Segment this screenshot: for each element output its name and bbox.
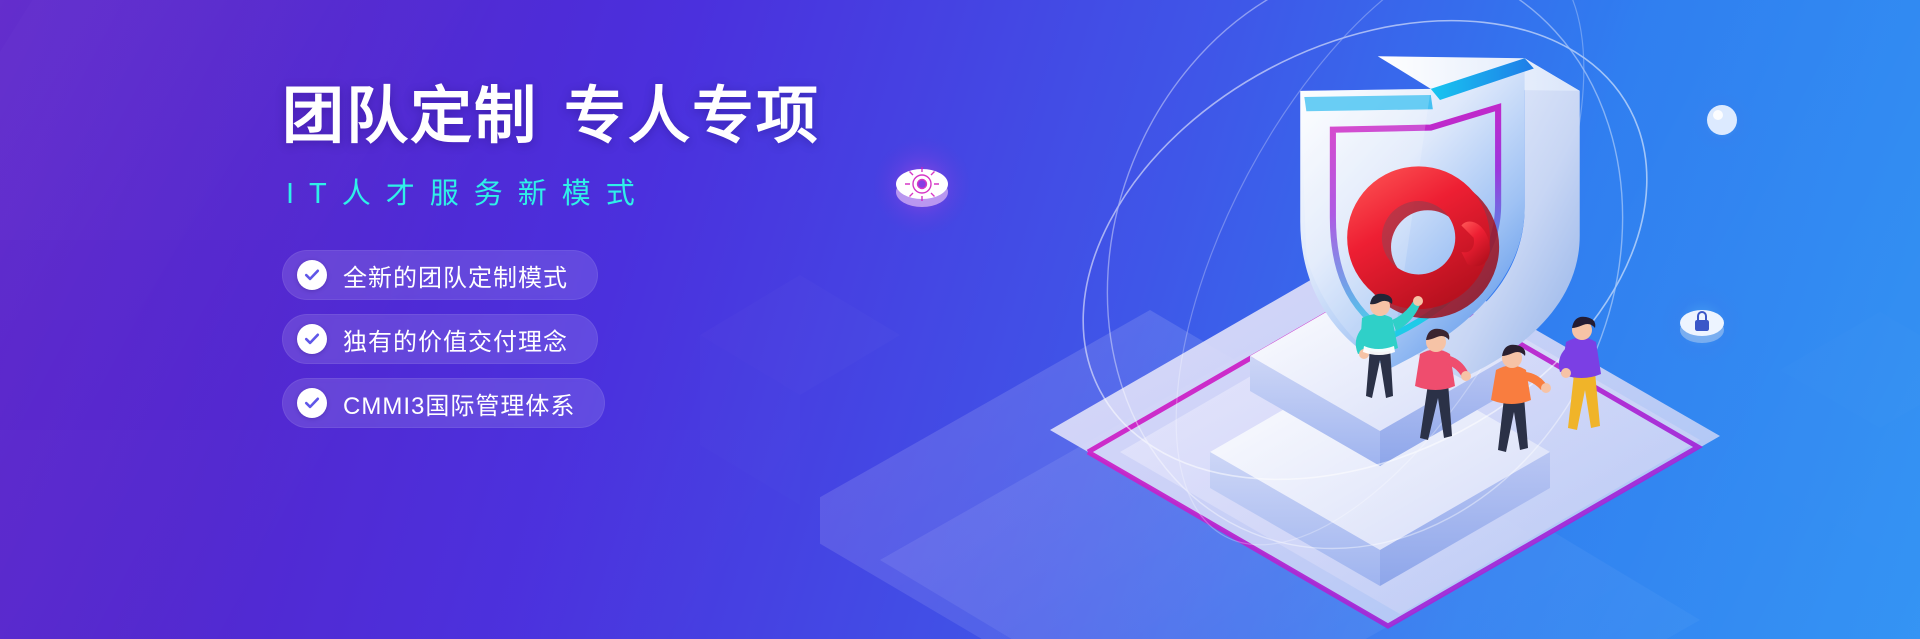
check-icon — [297, 260, 327, 290]
feature-pill-3[interactable]: CMMI3国际管理体系 — [282, 378, 605, 428]
headline-part-1: 团队定制 — [282, 82, 538, 151]
background-band-3 — [0, 430, 860, 639]
check-icon — [297, 388, 327, 418]
chip-node — [872, 136, 972, 236]
lock-node — [1660, 282, 1744, 366]
check-icon — [297, 324, 327, 354]
feature-pill-label: CMMI3国际管理体系 — [343, 386, 575, 421]
feature-pill-label: 独有的价值交付理念 — [343, 322, 568, 357]
headline-part-2: 专人专项 — [564, 82, 820, 151]
feature-pill-2[interactable]: 独有的价值交付理念 — [282, 314, 598, 364]
isometric-security-shield-illustration — [820, 0, 1920, 639]
promo-banner: 团队定制专人专项 IT人才服务新模式 全新的团队定制模式 独有的价值交付理念 — [0, 0, 1920, 639]
feature-pill-1[interactable]: 全新的团队定制模式 — [282, 250, 598, 300]
feature-pill-label: 全新的团队定制模式 — [343, 258, 568, 293]
sphere-node — [1692, 92, 1752, 152]
